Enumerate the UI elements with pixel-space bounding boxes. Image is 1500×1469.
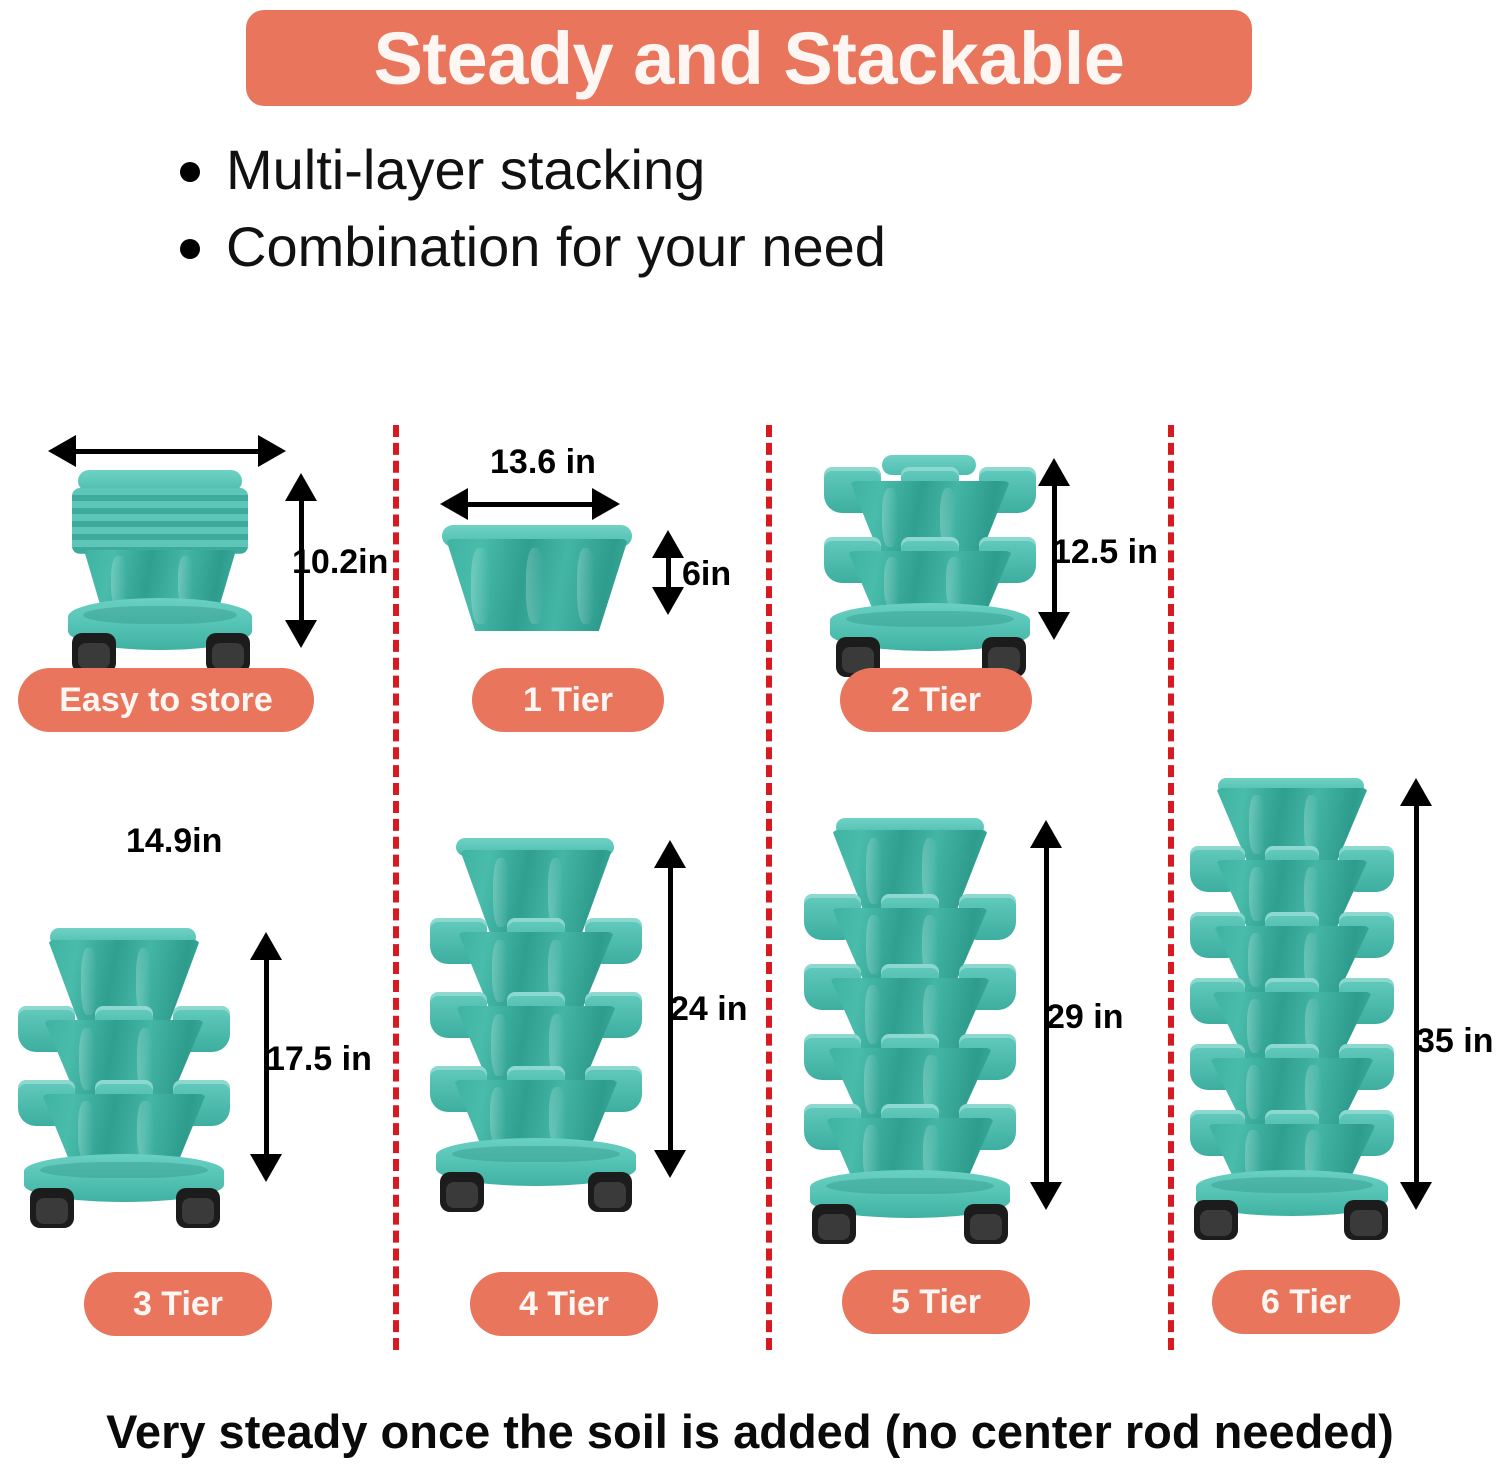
caster-wheel-left (440, 1172, 484, 1212)
pot-body (446, 539, 628, 631)
planter-graphic-three-tier (24, 928, 224, 1203)
caster-wheel-left (72, 633, 116, 673)
panel-four-tier: 24 in 4 Tier (400, 810, 766, 1330)
caster-wheel-right (176, 1188, 220, 1228)
badge-label: 2 Tier (891, 681, 981, 720)
height-dimension-label: 24 in (670, 990, 747, 1029)
infographic-root: Steady and Stackable Multi-layer stackin… (0, 0, 1500, 1469)
height-dimension-label: 6in (682, 555, 731, 594)
caster-wheel-left (812, 1204, 856, 1244)
badge-label: 4 Tier (519, 1285, 609, 1324)
badge-four-tier: 4 Tier (470, 1272, 658, 1336)
badge-label: Easy to store (59, 681, 273, 720)
bullet-dot-icon (180, 239, 200, 259)
height-dimension-arrow (652, 530, 684, 615)
panel-six-tier: 35 in 6 Tier (1168, 750, 1500, 1335)
width-dimension-arrow (440, 488, 620, 520)
height-dimension-label: 29 in (1046, 998, 1123, 1037)
height-dimension-arrow (1400, 778, 1432, 1210)
width-dimension-label: 13.6 in (490, 443, 596, 482)
badge-one-tier: 1 Tier (472, 668, 664, 732)
planter-graphic-two-tier (830, 455, 1030, 645)
badge-three-tier: 3 Tier (84, 1272, 272, 1336)
height-dimension-label: 17.5 in (266, 1040, 372, 1079)
bullet-label: Multi-layer stacking (226, 136, 705, 203)
panel-two-tier: 12.5 in 2 Tier (790, 430, 1168, 730)
planter-graphic-easy-to-store (60, 470, 260, 655)
column-divider-1 (393, 425, 399, 1350)
height-dimension-label: 10.2in (292, 543, 388, 582)
header-banner: Steady and Stackable (246, 10, 1252, 106)
badge-six-tier: 6 Tier (1212, 1270, 1400, 1334)
height-dimension-label: 12.5 in (1052, 533, 1158, 572)
list-item: Multi-layer stacking (180, 136, 1180, 203)
badge-label: 6 Tier (1261, 1283, 1351, 1322)
caster-wheel-left (30, 1188, 74, 1228)
width-dimension-label: 14.9in (126, 822, 222, 861)
panel-five-tier: 29 in 5 Tier (790, 790, 1168, 1335)
panel-three-tier: 17.5 in 3 Tier (0, 900, 393, 1330)
caster-wheel-left (1194, 1200, 1238, 1240)
column-divider-2 (766, 425, 772, 1350)
planter-graphic-one-tier (440, 525, 635, 640)
caster-wheel-right (1344, 1200, 1388, 1240)
planter-graphic-six-tier (1196, 778, 1388, 1218)
height-dimension-label: 35 in (1416, 1022, 1493, 1061)
caster-wheel-right (964, 1204, 1008, 1244)
bullet-dot-icon (180, 162, 200, 182)
badge-label: 3 Tier (133, 1285, 223, 1324)
feature-bullet-list: Multi-layer stacking Combination for you… (180, 136, 1180, 290)
footer-caption: Very steady once the soil is added (no c… (0, 1404, 1500, 1459)
list-item: Combination for your need (180, 213, 1180, 280)
bullet-label: Combination for your need (226, 213, 886, 280)
planter-graphic-four-tier (436, 838, 636, 1188)
badge-label: 1 Tier (523, 681, 613, 720)
panel-one-tier: 13.6 in 6in 1 Tier (400, 430, 766, 730)
nested-pot-ridges (72, 488, 248, 554)
planter-graphic-five-tier (810, 818, 1010, 1218)
badge-label: 5 Tier (891, 1283, 981, 1322)
footer-caption-text: Very steady once the soil is added (no c… (106, 1405, 1394, 1458)
width-dimension-arrow (48, 435, 286, 467)
badge-five-tier: 5 Tier (842, 1270, 1030, 1334)
caster-wheel-right (588, 1172, 632, 1212)
panel-easy-to-store: 14.9in 10.2in Easy to store (0, 410, 393, 730)
banner-title: Steady and Stackable (374, 16, 1125, 101)
badge-easy-to-store: Easy to store (18, 668, 314, 732)
badge-two-tier: 2 Tier (840, 668, 1032, 732)
caster-wheel-right (206, 633, 250, 673)
